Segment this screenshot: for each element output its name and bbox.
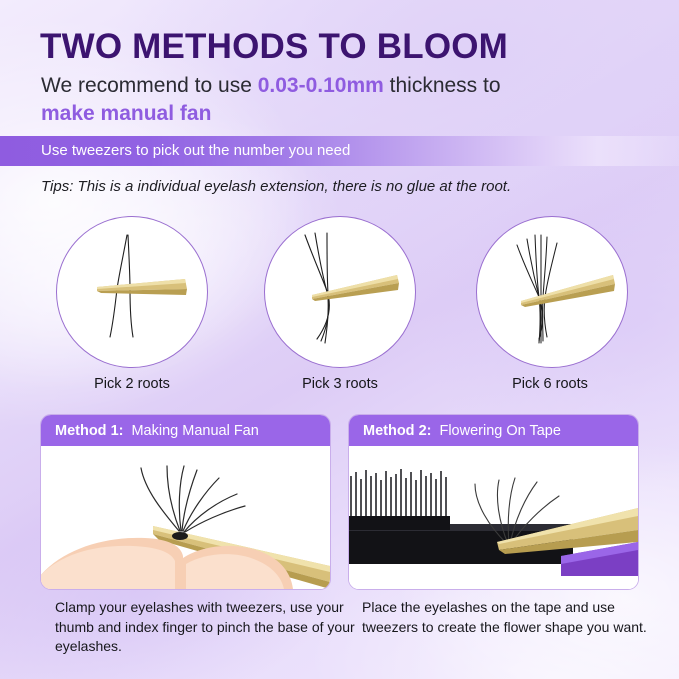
roots-example-2 [264,216,416,368]
lashes-on-tape-photo [349,446,638,589]
tweezer-lash-icon [477,217,628,368]
method-1-photo [41,446,330,589]
method-2-card: Method 2: Flowering On Tape [348,414,639,590]
method-1-card: Method 1: Making Manual Fan [40,414,331,590]
method-1-caption: Clamp your eyelashes with tweezers, use … [55,598,355,657]
method-1-header: Method 1: Making Manual Fan [41,415,330,446]
infographic-page: TWO METHODS TO BLOOM We recommend to use… [0,0,679,679]
method-2-photo [349,446,638,589]
method-2-name: Flowering On Tape [439,423,560,439]
page-title: TWO METHODS TO BLOOM [40,27,508,67]
hand-pinching-fan-photo [41,446,330,589]
subtitle-line-2: make manual fan [41,100,641,128]
roots-caption-2: Pick 3 roots [260,376,420,392]
subtitle: We recommend to use 0.03-0.10mm thicknes… [41,72,641,128]
method-2-label: Method 2: [363,423,431,439]
circle-photo-2-roots [56,216,208,368]
method-2-header: Method 2: Flowering On Tape [349,415,638,446]
method-1-name: Making Manual Fan [131,423,258,439]
thickness-value: 0.03-0.10mm [258,74,384,97]
instruction-banner-label: Use tweezers to pick out the number you … [41,142,350,159]
tips-note: Tips: This is a individual eyelash exten… [41,178,511,195]
circle-photo-6-roots [476,216,628,368]
roots-caption-1: Pick 2 roots [52,376,212,392]
method-1-label: Method 1: [55,423,123,439]
circle-photo-3-roots [264,216,416,368]
roots-example-1 [56,216,208,368]
roots-example-3 [476,216,628,368]
roots-caption-3: Pick 6 roots [470,376,630,392]
subtitle-text-pre: We recommend to use [41,74,258,97]
subtitle-text-post: thickness to [384,74,501,97]
tweezer-lash-icon [265,217,416,368]
method-2-caption: Place the eyelashes on the tape and use … [362,598,662,637]
roots-examples-row [0,216,679,368]
tweezer-lash-icon [57,217,208,368]
